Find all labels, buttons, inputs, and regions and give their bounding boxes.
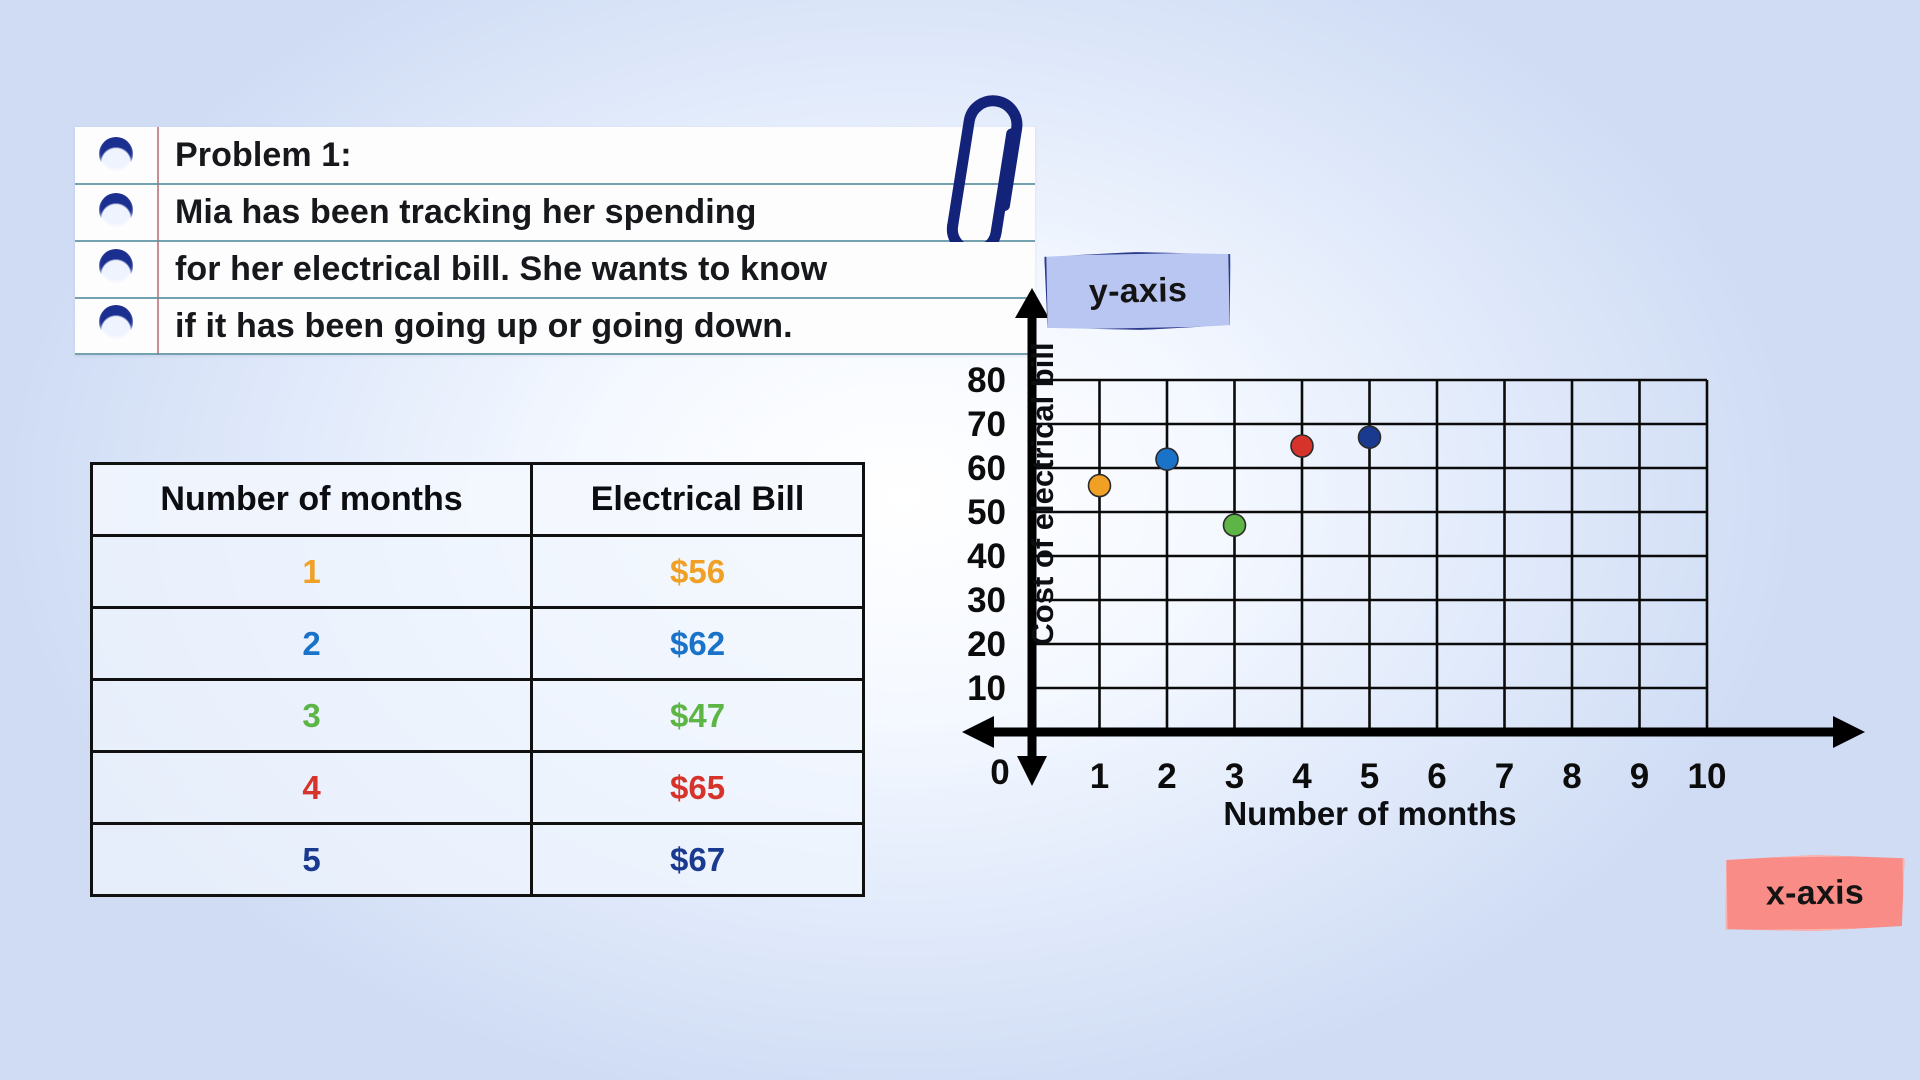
svg-text:2: 2 <box>1157 757 1176 796</box>
cell-month: 4 <box>92 752 532 824</box>
svg-text:40: 40 <box>967 537 1006 576</box>
column-header-months: Number of months <box>92 464 532 536</box>
table-header-row: Number of months Electrical Bill <box>92 464 864 536</box>
cell-bill: $65 <box>532 752 864 824</box>
svg-text:60: 60 <box>967 449 1006 488</box>
cell-month: 3 <box>92 680 532 752</box>
cell-bill: $47 <box>532 680 864 752</box>
cell-month: 5 <box>92 824 532 896</box>
svg-text:5: 5 <box>1360 757 1379 796</box>
svg-text:4: 4 <box>1292 757 1312 796</box>
spiral-ring-icon <box>99 193 133 227</box>
cell-month: 2 <box>92 608 532 680</box>
svg-text:50: 50 <box>967 493 1006 532</box>
problem-note-card: Problem 1: Mia has been tracking her spe… <box>75 127 1035 355</box>
svg-text:3: 3 <box>1225 757 1244 796</box>
column-header-bill: Electrical Bill <box>532 464 864 536</box>
cell-bill: $62 <box>532 608 864 680</box>
x-axis-sticky-text: x-axis <box>1766 873 1865 913</box>
svg-text:20: 20 <box>967 625 1006 664</box>
problem-text: Problem 1: Mia has been tracking her spe… <box>175 127 1025 355</box>
cell-bill: $67 <box>532 824 864 896</box>
problem-line-3: for her electrical bill. She wants to kn… <box>175 241 1025 298</box>
x-axis-sticky-label: x-axis <box>1724 854 1905 933</box>
spiral-ring-icon <box>99 305 133 339</box>
svg-text:70: 70 <box>967 405 1006 444</box>
table-row: 1$56 <box>92 536 864 608</box>
plot-axes <box>962 288 1865 786</box>
x-axis-tick-labels: 012345678910 <box>990 753 1726 796</box>
x-axis-title: Number of months <box>1020 795 1720 833</box>
svg-text:1: 1 <box>1090 757 1109 796</box>
table-row: 2$62 <box>92 608 864 680</box>
svg-text:8: 8 <box>1562 757 1581 796</box>
problem-line-2: Mia has been tracking her spending <box>175 184 1025 241</box>
svg-text:6: 6 <box>1427 757 1446 796</box>
scatter-plot: Cost of electrical bill Number of months… <box>900 280 1910 860</box>
table-row: 5$67 <box>92 824 864 896</box>
svg-text:0: 0 <box>990 753 1009 792</box>
svg-text:10: 10 <box>967 669 1006 708</box>
cell-month: 1 <box>92 536 532 608</box>
svg-text:30: 30 <box>967 581 1006 620</box>
y-axis-sticky-text: y-axis <box>1089 271 1188 312</box>
svg-text:10: 10 <box>1688 757 1727 796</box>
cell-bill: $56 <box>532 536 864 608</box>
svg-text:7: 7 <box>1495 757 1514 796</box>
y-axis-title: Cost of electrical bill <box>1025 329 1061 659</box>
svg-text:80: 80 <box>967 361 1006 400</box>
data-table: Number of months Electrical Bill 1$562$6… <box>90 462 865 897</box>
paperclip-icon <box>925 82 1045 242</box>
spiral-ring-icon <box>99 249 133 283</box>
problem-heading: Problem 1: <box>175 127 1025 184</box>
table-row: 3$47 <box>92 680 864 752</box>
spiral-ring-icon <box>99 137 133 171</box>
y-axis-tick-labels: 1020304050607080 <box>967 361 1006 708</box>
table-row: 4$65 <box>92 752 864 824</box>
y-axis-sticky-label: y-axis <box>1044 250 1231 332</box>
svg-text:9: 9 <box>1630 757 1649 796</box>
problem-line-4: if it has been going up or going down. <box>175 298 1025 355</box>
